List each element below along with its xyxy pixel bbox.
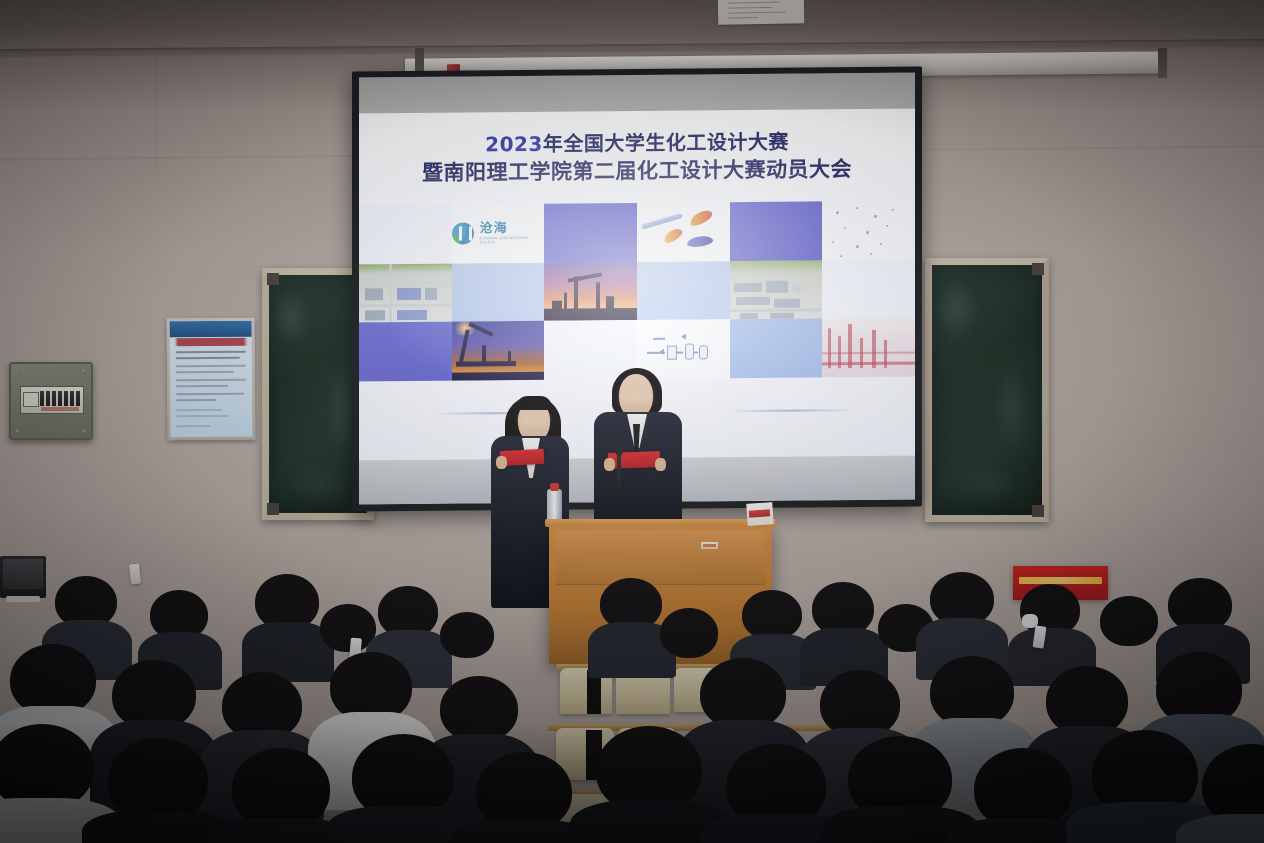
photo-vignette <box>0 0 1264 843</box>
lecture-hall-photo: 2023年全国大学生化工设计大赛 暨南阳理工学院第二届化工设计大赛动员大会 沧海… <box>0 0 1264 843</box>
